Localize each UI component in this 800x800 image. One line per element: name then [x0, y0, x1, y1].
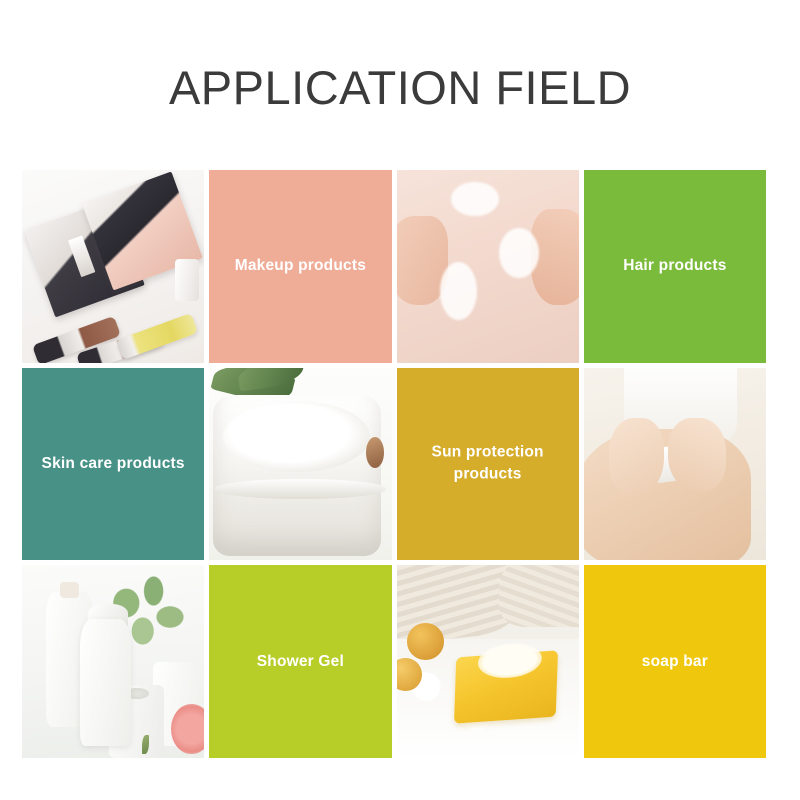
flower-icon	[171, 704, 204, 754]
hand-left-shape	[609, 418, 664, 495]
jar-rim-shape	[215, 479, 386, 498]
cream-jar-photo	[209, 368, 391, 561]
soap-bars-photo	[397, 565, 579, 758]
hair-wash-photo	[397, 170, 579, 363]
application-field-page: APPLICATION FIELD Makeup products	[0, 0, 800, 800]
application-field-grid: Makeup products Hair products Skin care …	[22, 170, 766, 758]
page-title: APPLICATION FIELD	[0, 64, 800, 111]
cosmetic-tube-icon	[175, 259, 199, 301]
foam-blob-icon	[451, 182, 498, 217]
cell-soap-bars-photo	[397, 565, 579, 758]
makeup-products-label: Makeup products	[209, 255, 391, 277]
leaf-icon	[142, 735, 149, 754]
cell-hair-products[interactable]: Hair products	[584, 170, 766, 363]
cell-hair-wash-photo	[397, 170, 579, 363]
cell-spa-bottles-photo	[22, 565, 204, 758]
towel-shape	[499, 565, 579, 627]
spa-bottles-photo	[22, 565, 204, 758]
cell-skin-care-products[interactable]: Skin care products	[22, 368, 204, 561]
cell-sun-protection-products[interactable]: Sun protection products	[397, 368, 579, 561]
soap-ball-icon	[407, 623, 443, 660]
cell-makeup-photo	[22, 170, 204, 363]
makeup-photo	[22, 170, 204, 363]
skin-care-products-label: Skin care products	[22, 453, 204, 475]
hair-products-label: Hair products	[584, 255, 766, 277]
dispenser-bottle-icon	[80, 619, 131, 746]
cell-cream-jar-photo	[209, 368, 391, 561]
hand-right-shape	[668, 418, 726, 491]
soap-bar-label: soap bar	[584, 650, 766, 672]
shower-gel-label: Shower Gel	[209, 650, 391, 672]
cell-soap-bar[interactable]: soap bar	[584, 565, 766, 758]
sun-protection-products-label: Sun protection products	[397, 442, 579, 487]
cell-shower-gel[interactable]: Shower Gel	[209, 565, 391, 758]
cell-makeup-products[interactable]: Makeup products	[209, 170, 391, 363]
cell-lotion-application-photo	[584, 368, 766, 561]
foam-blob-icon	[440, 262, 476, 320]
soap-bar-icon	[454, 650, 558, 723]
lip-gloss-icon	[116, 313, 199, 360]
cream-jar-shape	[213, 395, 381, 557]
lotion-application-photo	[584, 368, 766, 561]
jar-highlight-shape	[366, 437, 384, 468]
foam-blob-icon	[499, 228, 539, 278]
